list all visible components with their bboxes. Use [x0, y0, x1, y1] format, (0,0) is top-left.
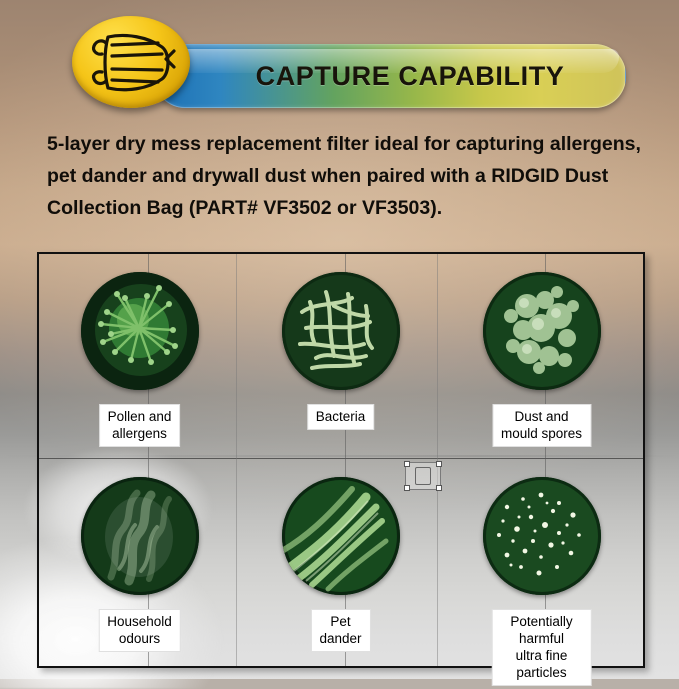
cell-caption: Pet dander — [310, 609, 370, 652]
intro-paragraph: 5-layer dry mess replacement filter idea… — [47, 128, 647, 224]
smoke-odour-micrograph — [81, 477, 199, 595]
dust-mask-icon — [88, 29, 176, 97]
grid-cell-pollen: Pollen and allergens — [39, 254, 240, 459]
cell-caption: Bacteria — [307, 404, 375, 430]
mould-spores-micrograph — [483, 272, 601, 390]
handle-dot-top-right[interactable] — [436, 461, 442, 467]
pet-hair-micrograph — [282, 477, 400, 595]
header: CAPTURE CAPABILITY — [62, 16, 622, 110]
bacteria-rods-micrograph — [282, 272, 400, 390]
cell-caption: Pollen and allergens — [99, 404, 181, 447]
handle-dot-top-left[interactable] — [404, 461, 410, 467]
capture-capability-banner: CAPTURE CAPABILITY — [154, 44, 626, 108]
cell-caption: Household odours — [98, 609, 181, 652]
fine-particles-micrograph — [483, 477, 601, 595]
handle-dot-bottom-left[interactable] — [404, 485, 410, 491]
grid-cell-odours: Household odours — [39, 459, 240, 664]
grid-cell-bacteria: Bacteria — [240, 254, 441, 459]
capture-grid-panel: Pollen and allergens — [37, 252, 645, 668]
grid-cell-mould: Dust and mould spores — [441, 254, 642, 459]
handle-dot-bottom-right[interactable] — [436, 485, 442, 491]
badge — [72, 16, 194, 110]
handle-glyph-icon — [415, 467, 431, 485]
cell-caption: Dust and mould spores — [492, 404, 591, 447]
cell-caption: Potentially harmful ultra fine particles — [491, 609, 592, 686]
banner-title: CAPTURE CAPABILITY — [155, 45, 625, 107]
pollen-grain-micrograph — [81, 272, 199, 390]
grid-cell-ultrafine: Potentially harmful ultra fine particles — [441, 459, 642, 664]
selection-handle[interactable] — [405, 462, 441, 490]
